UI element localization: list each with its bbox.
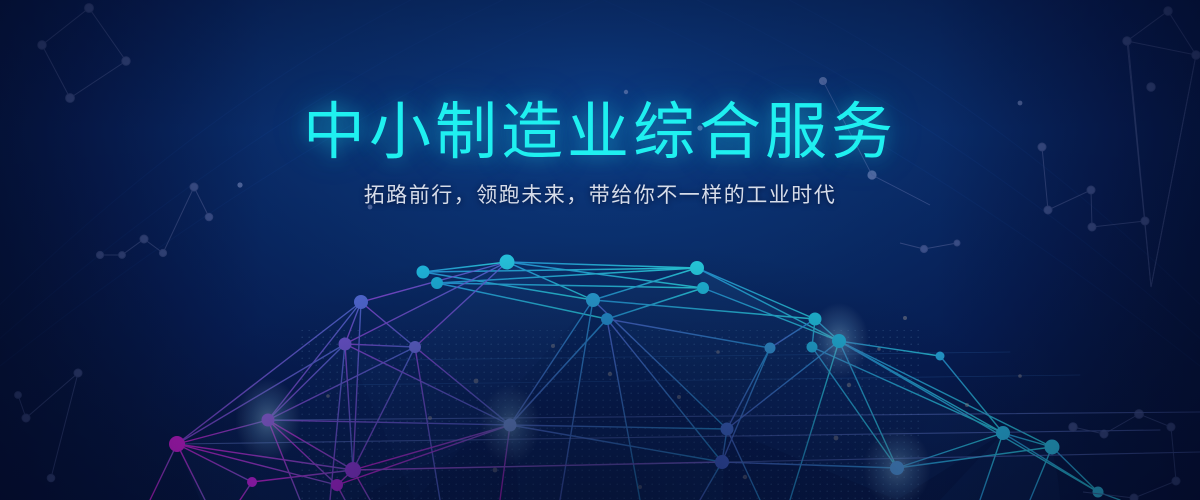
background-vignette xyxy=(0,0,1200,500)
hero-banner: 中小制造业综合服务 拓路前行，领跑未来，带给你不一样的工业时代 xyxy=(0,0,1200,500)
